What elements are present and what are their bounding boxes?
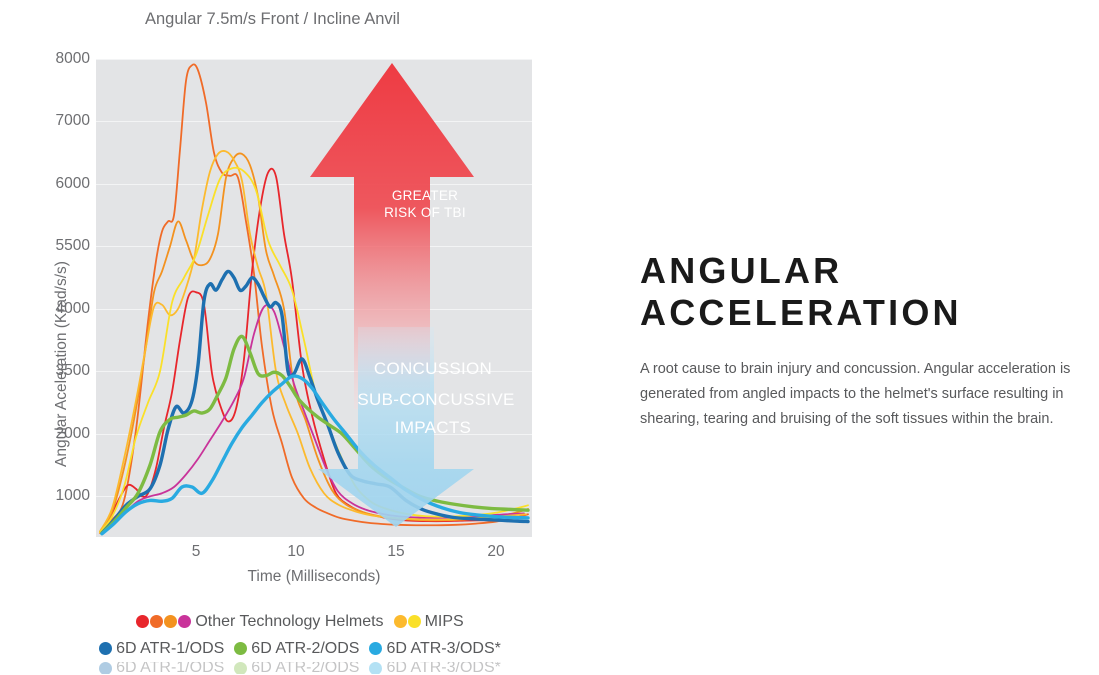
legend-item[interactable]: 6D ATR-2/ODS [234, 662, 359, 674]
legend-item[interactable]: 6D ATR-3/ODS* [369, 662, 500, 674]
x-axis-tick: 5 [192, 543, 201, 561]
y-axis-tick: 4000 [56, 300, 90, 318]
y-axis-tick: 7000 [56, 112, 90, 130]
legend-swatches [369, 662, 383, 674]
legend-swatches [369, 642, 383, 655]
legend-label: 6D ATR-3/ODS* [386, 640, 500, 658]
legend-label: 6D ATR-2/ODS [251, 662, 359, 674]
impacts-label: IMPACTS [348, 417, 518, 438]
plot-area [96, 59, 532, 537]
y-axis-tick: 2000 [56, 425, 90, 443]
legend-item[interactable]: Other Technology Helmets [136, 613, 383, 631]
x-axis-tick: 15 [387, 543, 404, 561]
legend-item[interactable]: 6D ATR-3/ODS* [369, 640, 500, 658]
legend-dot-icon [408, 615, 421, 628]
legend-dot-icon [394, 615, 407, 628]
legend-swatches [234, 642, 248, 655]
x-axis-tick: 10 [287, 543, 304, 561]
legend-row: 6D ATR-1/ODS6D ATR-2/ODS6D ATR-3/ODS* [0, 635, 600, 662]
legend-item[interactable]: 6D ATR-1/ODS [99, 640, 224, 658]
legend-item[interactable]: MIPS [394, 613, 464, 631]
legend-label: 6D ATR-1/ODS [116, 640, 224, 658]
legend-dot-icon [178, 615, 191, 628]
body-copy: A root cause to brain injury and concuss… [640, 357, 1072, 432]
y-axis-tick: 3500 [56, 362, 90, 380]
legend-swatches [234, 662, 248, 674]
legend-dot-icon [234, 642, 247, 655]
sub-concussive-label: SUB-CONCUSSIVE [348, 389, 524, 410]
legend-dot-icon [99, 662, 112, 674]
legend-label: 6D ATR-3/ODS* [386, 662, 500, 674]
legend-swatches [99, 642, 113, 655]
legend-dot-icon [369, 662, 382, 674]
legend-swatches [99, 662, 113, 674]
side-panel: ANGULAR ACCELERATION A root cause to bra… [640, 250, 1080, 432]
y-axis-tick: 5500 [56, 237, 90, 255]
chart-legend: Other Technology HelmetsMIPS 6D ATR-1/OD… [0, 608, 600, 674]
legend-label: 6D ATR-1/ODS [116, 662, 224, 674]
legend-label: MIPS [425, 613, 464, 631]
legend-row: Other Technology HelmetsMIPS [0, 608, 600, 635]
y-axis-tick: 6000 [56, 175, 90, 193]
x-axis: 5101520 [96, 543, 532, 567]
legend-label: 6D ATR-2/ODS [251, 640, 359, 658]
y-axis: Angular Aceleration (Krad/s/s) 100020003… [30, 59, 90, 537]
legend-dot-icon [150, 615, 163, 628]
greater-risk-label: GREATER RISK OF TBI [360, 188, 490, 222]
legend-dot-icon [136, 615, 149, 628]
chart-title: Angular 7.5m/s Front / Incline Anvil [145, 10, 400, 29]
y-axis-tick: 1000 [56, 487, 90, 505]
curve-layer [96, 59, 532, 537]
page-title: ANGULAR ACCELERATION [640, 250, 1080, 335]
legend-dot-icon [164, 615, 177, 628]
legend-row-cutoff: 6D ATR-1/ODS6D ATR-2/ODS6D ATR-3/ODS* [0, 662, 600, 674]
chart-panel: Angular 7.5m/s Front / Incline Anvil Ang… [0, 0, 600, 675]
concussion-label: CONCUSSION [348, 358, 518, 379]
x-axis-title: Time (Milliseconds) [96, 568, 532, 586]
legend-swatches [394, 615, 422, 628]
legend-dot-icon [369, 642, 382, 655]
legend-item[interactable]: 6D ATR-1/ODS [99, 662, 224, 674]
legend-item[interactable]: 6D ATR-2/ODS [234, 640, 359, 658]
y-axis-tick: 8000 [56, 50, 90, 68]
legend-swatches [136, 615, 192, 628]
x-axis-tick: 20 [487, 543, 504, 561]
series-line [100, 64, 528, 532]
legend-label: Other Technology Helmets [195, 613, 383, 631]
legend-dot-icon [234, 662, 247, 674]
legend-dot-icon [99, 642, 112, 655]
